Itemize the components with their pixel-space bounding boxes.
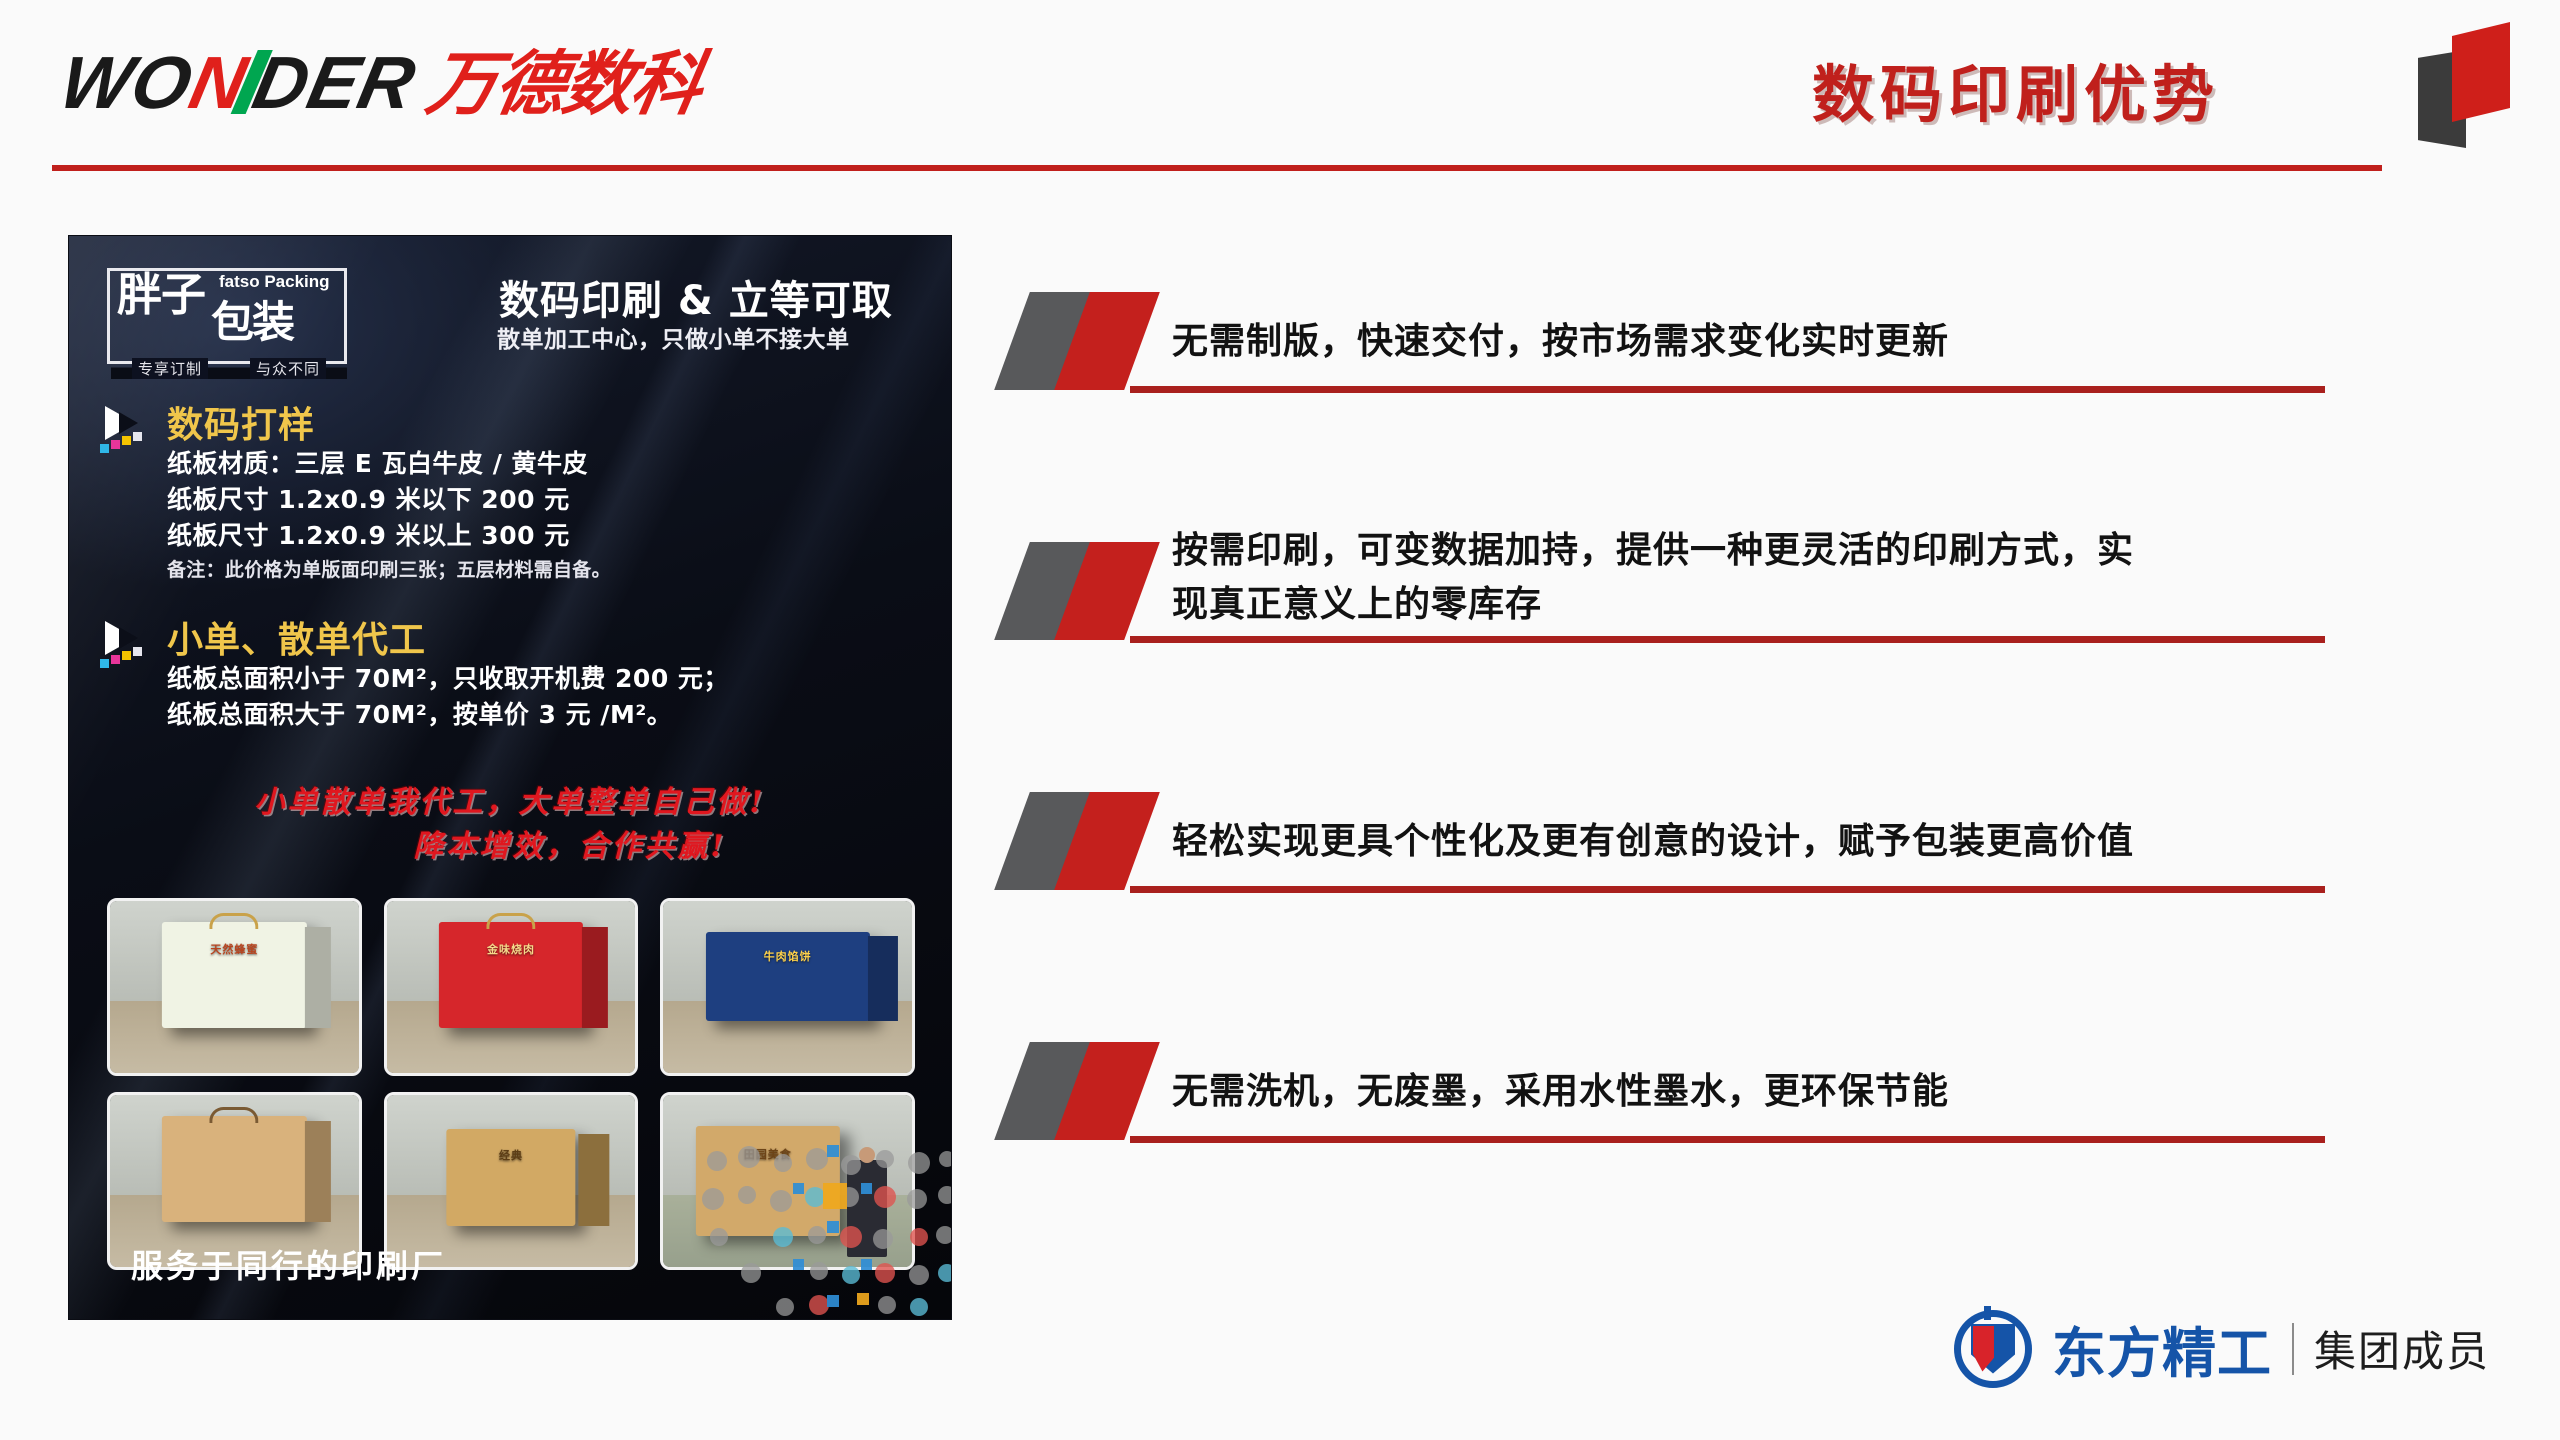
advantage-item-no-plate-making: 无需制版，快速交付，按市场需求变化实时更新 — [1012, 268, 2412, 518]
section-line: 纸板总面积小于 70M²，只收取开机费 200 元； — [167, 661, 729, 697]
group-member-logo: 东方精工 集团成员 — [1954, 1309, 2490, 1388]
advantage-text: 按需印刷，可变数据加持，提供一种更灵活的印刷方式，实 现真正意义上的零库存 — [1172, 524, 2352, 632]
box-side-panel — [305, 1121, 331, 1222]
box-side-panel — [868, 936, 898, 1021]
section-line: 纸板材质：三层 E 瓦白牛皮 / 黄牛皮 — [167, 446, 611, 482]
white-dot-icon — [133, 432, 142, 441]
advantage-item-personalized-design: 轻松实现更具个性化及更有创意的设计，赋予包装更高价值 — [1012, 768, 2412, 1018]
magenta-dot-icon — [111, 655, 120, 664]
box-label: 天然蜂蜜 — [210, 941, 258, 957]
corner-red-shape — [2452, 22, 2510, 122]
advantage-line: 现真正意义上的零库存 — [1172, 578, 2352, 632]
bullet-marker-icon — [1012, 792, 1182, 892]
header-divider — [52, 165, 2382, 171]
poster-top-row: 胖子 包装 fatso Packing 专享订制 与众不同 数码印刷 & 立等可… — [69, 254, 951, 384]
page-title: 数码印刷优势 — [1812, 44, 2220, 134]
halftone-dot-decoration-icon — [697, 1139, 952, 1320]
box-classic-gift: 经典 — [446, 1129, 575, 1225]
advantage-text: 轻松实现更具个性化及更有创意的设计，赋予包装更高价值 — [1172, 815, 2352, 869]
corner-decoration-icon — [2412, 8, 2532, 158]
fatso-logo-cn-top: 胖子 — [117, 272, 205, 317]
advantage-text: 无需洗机，无废墨，采用水性墨水，更环保节能 — [1172, 1065, 2352, 1119]
advantage-item-eco-friendly: 无需洗机，无废墨，采用水性墨水，更环保节能 — [1012, 1018, 2412, 1268]
arrow-bullet-icon — [97, 621, 163, 673]
section-line: 纸板尺寸 1.2x0.9 米以上 300 元 — [167, 518, 611, 554]
fatso-logo-cn-bottom: 包装 — [211, 302, 293, 345]
poster-section-digital-proofing: 数码打样 纸板材质：三层 E 瓦白牛皮 / 黄牛皮 纸板尺寸 1.2x0.9 米… — [97, 406, 611, 585]
tagline-left: 专享订制 — [132, 358, 208, 379]
box-honey-gift: 天然蜂蜜 — [162, 922, 306, 1029]
bullet-marker-icon — [1012, 1042, 1182, 1142]
yellow-dot-icon — [122, 651, 131, 660]
tagline-right: 与众不同 — [250, 358, 326, 379]
slide-root: WONDER 万德数科 数码印刷优势 胖子 包装 fatso Packing 专… — [0, 0, 2560, 1440]
fatso-packing-logo: 胖子 包装 fatso Packing 专享订制 与众不同 — [107, 260, 347, 380]
advantage-underline — [1130, 1136, 2325, 1143]
product-photo: 天然蜂蜜 — [107, 898, 362, 1076]
cyan-dot-icon — [100, 444, 109, 453]
fatso-logo-en: fatso Packing — [219, 272, 330, 292]
magenta-dot-icon — [111, 440, 120, 449]
box-side-panel — [582, 927, 608, 1028]
advantage-underline — [1130, 636, 2325, 643]
box-label: 经典 — [499, 1147, 523, 1163]
poster-headline: 数码印刷 & 立等可取 — [499, 268, 893, 326]
box-side-panel — [578, 1134, 609, 1225]
poster-subheadline: 散单加工中心，只做小单不接大单 — [497, 320, 850, 354]
brand-chinese-name: 万德数科 — [422, 49, 706, 119]
bullet-marker-icon — [1012, 292, 1182, 392]
yellow-dot-icon — [122, 436, 131, 445]
box-braised-meat: 金味烧肉 — [439, 922, 583, 1029]
section-note: 备注：此价格为单版面印刷三张；五层材料需自备。 — [167, 556, 611, 585]
advantage-line: 轻松实现更具个性化及更有创意的设计，赋予包装更高价值 — [1172, 815, 2352, 869]
poster-slogan: 小单散单我代工，大单整单自己做! 降本增效，合作共赢! — [69, 781, 951, 868]
box-handle — [210, 913, 259, 929]
slogan-line-1: 小单散单我代工，大单整单自己做! — [69, 781, 951, 825]
advantage-text: 无需制版，快速交付，按市场需求变化实时更新 — [1172, 315, 2352, 369]
dongfang-logo-icon — [1954, 1310, 2032, 1388]
promo-poster-image: 胖子 包装 fatso Packing 专享订制 与众不同 数码印刷 & 立等可… — [68, 235, 952, 1320]
logo-tick — [1984, 1306, 1991, 1320]
box-side-panel — [305, 927, 331, 1028]
box-handle — [486, 913, 535, 929]
section-body: 小单、散单代工 纸板总面积小于 70M²，只收取开机费 200 元； 纸板总面积… — [163, 621, 729, 733]
box-handle — [210, 1107, 259, 1123]
advantage-line: 按需印刷，可变数据加持，提供一种更灵活的印刷方式，实 — [1172, 524, 2352, 578]
advantage-underline — [1130, 886, 2325, 893]
cyan-dot-icon — [100, 659, 109, 668]
product-photo: 牛肉馅饼 — [660, 898, 915, 1076]
arrow-bullet-icon — [97, 406, 163, 458]
bullet-marker-icon — [1012, 542, 1182, 642]
advantage-item-print-on-demand: 按需印刷，可变数据加持，提供一种更灵活的印刷方式，实 现真正意义上的零库存 — [1012, 518, 2412, 768]
advantage-line: 无需洗机，无废墨，采用水性墨水，更环保节能 — [1172, 1065, 2352, 1119]
brand-wonder-text: WONDER — [54, 46, 422, 120]
section-title: 小单、散单代工 — [167, 621, 729, 661]
poster-footer-text: 服务于同行的印刷厂 — [131, 1241, 446, 1287]
box-label: 牛肉馅饼 — [764, 948, 812, 964]
footer-divider — [2292, 1323, 2294, 1375]
section-line: 纸板总面积大于 70M²，按单价 3 元 /M²。 — [167, 697, 729, 733]
advantages-list: 无需制版，快速交付，按市场需求变化实时更新 按需印刷，可变数据加持，提供一种更灵… — [1012, 268, 2412, 1268]
group-member-label: 集团成员 — [2314, 1318, 2490, 1379]
box-kraft-tote — [162, 1116, 306, 1223]
advantage-underline — [1130, 386, 2325, 393]
box-label: 金味烧肉 — [487, 941, 535, 957]
section-line: 纸板尺寸 1.2x0.9 米以下 200 元 — [167, 482, 611, 518]
fatso-logo-taglines: 专享订制 与众不同 — [111, 358, 347, 379]
wonder-brand-logo: WONDER 万德数科 — [62, 46, 700, 120]
section-title: 数码打样 — [167, 406, 611, 446]
chevron-inner-shape — [119, 627, 138, 649]
white-dot-icon — [133, 647, 142, 656]
product-photo: 金味烧肉 — [384, 898, 639, 1076]
section-body: 数码打样 纸板材质：三层 E 瓦白牛皮 / 黄牛皮 纸板尺寸 1.2x0.9 米… — [163, 406, 611, 585]
box-beef-jerky: 牛肉馅饼 — [706, 932, 870, 1021]
chevron-inner-shape — [119, 412, 138, 434]
slogan-line-2: 降本增效，合作共赢! — [69, 825, 951, 869]
advantage-line: 无需制版，快速交付，按市场需求变化实时更新 — [1172, 315, 2352, 369]
poster-section-small-order-oem: 小单、散单代工 纸板总面积小于 70M²，只收取开机费 200 元； 纸板总面积… — [97, 621, 729, 733]
company-name: 东方精工 — [2052, 1309, 2272, 1388]
